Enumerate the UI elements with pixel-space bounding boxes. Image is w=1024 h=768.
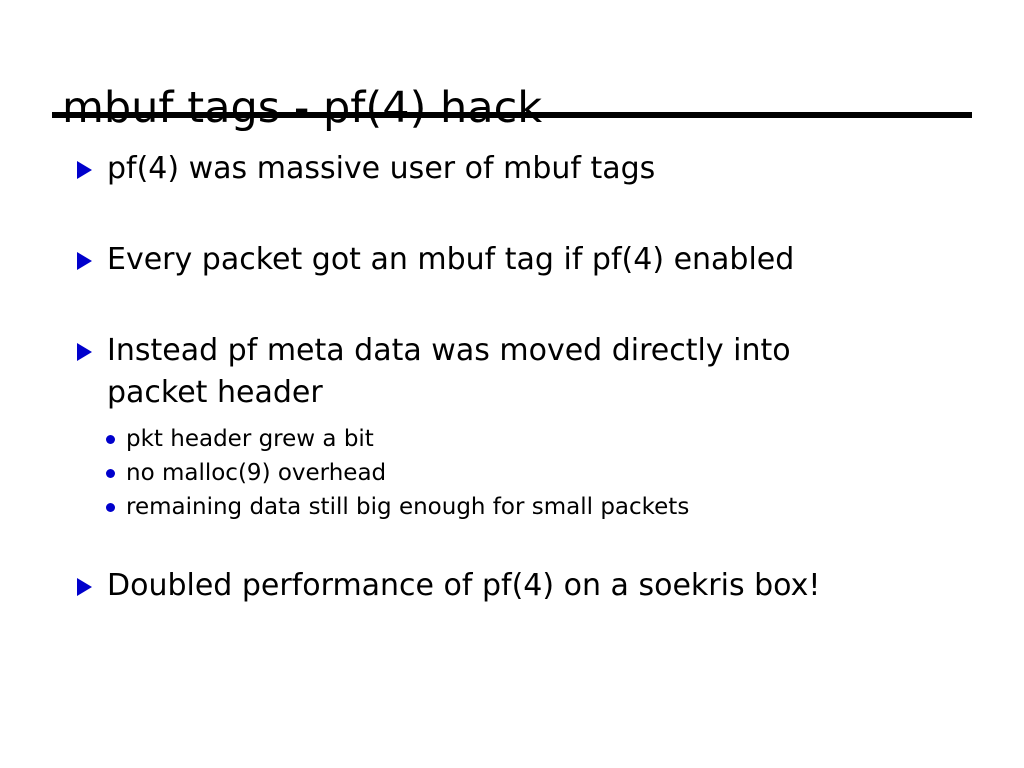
spacer (0, 281, 1024, 330)
spacer (0, 524, 1024, 565)
list-item: Every packet got an mbuf tag if pf(4) en… (0, 239, 1024, 281)
sub-list-item-label: no malloc(9) overhead (126, 460, 386, 486)
sub-list-item: remaining data still big enough for smal… (0, 490, 1024, 524)
dot-icon (106, 469, 115, 478)
list-item-label: Every packet got an mbuf tag if pf(4) en… (107, 239, 877, 281)
spacer (0, 190, 1024, 239)
triangle-right-icon (77, 161, 92, 179)
list-item-label: Doubled performance of pf(4) on a soekri… (107, 565, 877, 607)
slide: mbuf tags - pf(4) hack pf(4) was massive… (0, 0, 1024, 768)
title-divider (52, 112, 972, 118)
sub-list-item-label: remaining data still big enough for smal… (126, 494, 689, 520)
spacer (0, 414, 1024, 420)
triangle-right-icon (77, 252, 92, 270)
list-item: Instead pf meta data was moved directly … (0, 330, 1024, 414)
sub-list-item: pkt header grew a bit (0, 422, 1024, 456)
dot-icon (106, 503, 115, 512)
list-item: pf(4) was massive user of mbuf tags (0, 148, 1024, 190)
triangle-right-icon (77, 343, 92, 361)
triangle-right-icon (77, 578, 92, 596)
slide-body: pf(4) was massive user of mbuf tags Ever… (0, 148, 1024, 607)
sub-list-item: no malloc(9) overhead (0, 456, 1024, 490)
page-title: mbuf tags - pf(4) hack (62, 82, 982, 134)
sub-list-item-label: pkt header grew a bit (126, 426, 374, 452)
sub-list: pkt header grew a bit no malloc(9) overh… (0, 422, 1024, 524)
dot-icon (106, 435, 115, 444)
list-item-label: Instead pf meta data was moved directly … (107, 330, 877, 414)
list-item: Doubled performance of pf(4) on a soekri… (0, 565, 1024, 607)
list-item-label: pf(4) was massive user of mbuf tags (107, 148, 877, 190)
